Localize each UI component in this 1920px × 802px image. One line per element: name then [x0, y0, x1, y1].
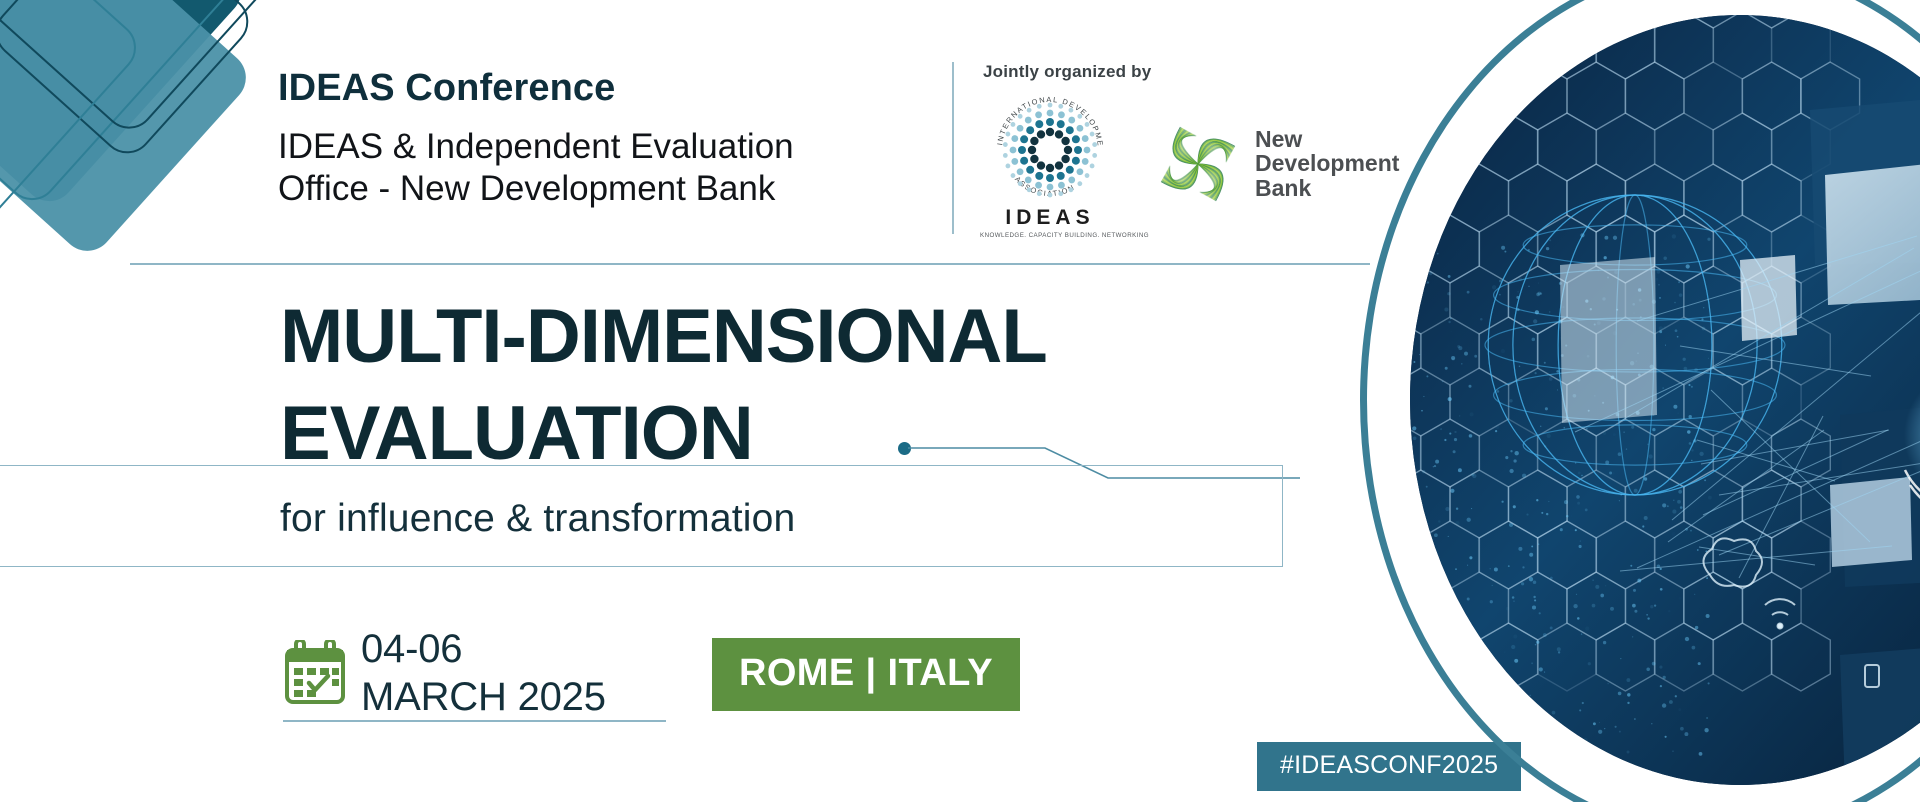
event-date-block: 04-06 MARCH 2025	[283, 629, 606, 717]
event-date-line1: 04-06	[361, 629, 606, 669]
header-text: IDEAS Conference IDEAS & Independent Eva…	[278, 68, 968, 211]
ideas-logo: INTERNATIONAL DEVELOPMENT EVALUATION ASS…	[980, 88, 1120, 239]
calendar-check-icon	[283, 640, 347, 706]
conference-subtitle-line1: IDEAS & Independent Evaluation	[278, 126, 968, 169]
event-date-line2: MARCH 2025	[361, 677, 606, 717]
location-badge: ROME | ITALY	[712, 638, 1020, 711]
svg-text:ASSOCIATION: ASSOCIATION	[1013, 175, 1077, 198]
ideas-tagline: KNOWLEDGE. CAPACITY BUILDING. NETWORKING	[980, 232, 1120, 239]
header-divider-rule	[130, 263, 1370, 265]
hero-circle	[1360, 0, 1920, 802]
header-vertical-divider	[952, 62, 954, 234]
ndb-pinwheel-icon	[1154, 120, 1242, 208]
organizer-logos: Jointly organized by INTERNATIONAL DEVEL…	[980, 62, 1400, 239]
conference-subtitle-line2: Office - New Development Bank	[278, 168, 968, 211]
conference-title: IDEAS Conference	[278, 68, 968, 110]
headline-line1: MULTI-DIMENSIONAL	[280, 288, 1380, 385]
ideas-wordmark: IDEAS	[980, 207, 1120, 228]
event-date-text: 04-06 MARCH 2025	[361, 629, 606, 717]
jointly-organized-label: Jointly organized by	[980, 62, 1400, 82]
ideas-dot-circle-icon: INTERNATIONAL DEVELOPMENT EVALUATION ASS…	[980, 88, 1120, 206]
conference-banner: IDEAS Conference IDEAS & Independent Eva…	[0, 0, 1920, 802]
event-date-underline	[283, 720, 666, 722]
headline-outline-box	[0, 465, 1283, 567]
